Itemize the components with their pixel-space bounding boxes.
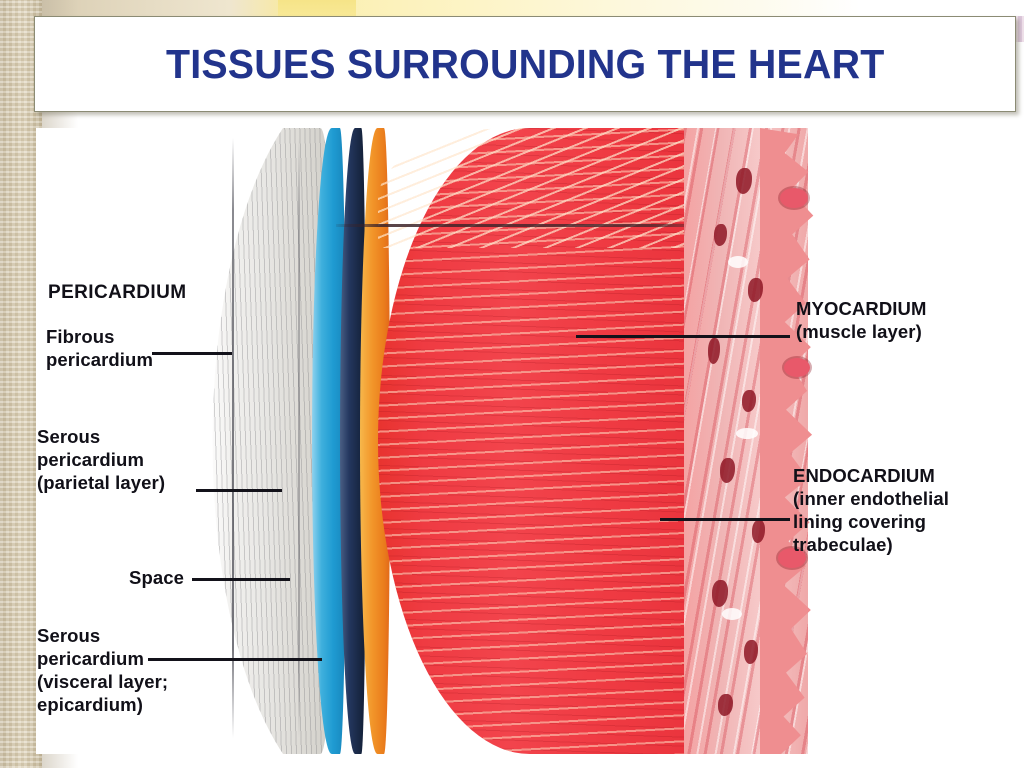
fibrous-edge-line-inner xyxy=(298,138,300,738)
label-myocardium: MYOCARDIUM (muscle layer) xyxy=(796,297,927,343)
leader-line-myocardium xyxy=(576,335,790,338)
label-space: Space xyxy=(129,566,184,589)
leader-line-endocardium xyxy=(660,518,790,521)
label-serous-visceral: Serous pericardium (visceral layer; epic… xyxy=(37,624,168,716)
trabecula-highlight xyxy=(728,256,748,268)
trabecula-knob xyxy=(780,188,808,208)
leader-line-fibrous-pericardium xyxy=(152,352,232,355)
leader-line-serous-visceral xyxy=(148,658,322,661)
leader-line-serous-parietal xyxy=(196,489,282,492)
myocardium-fiber-fan xyxy=(378,128,708,248)
label-serous-parietal: Serous pericardium (parietal layer) xyxy=(37,425,165,494)
label-endocardium: ENDOCARDIUM (inner endothelial lining co… xyxy=(793,464,949,556)
label-pericardium-heading: PERICARDIUM xyxy=(48,281,186,304)
myocardium-cut-edge-line xyxy=(336,224,708,227)
trabecula-highlight xyxy=(722,608,742,620)
trabecula-knob xyxy=(784,358,810,377)
label-fibrous-pericardium: Fibrous pericardium xyxy=(46,325,153,371)
page-title: TISSUES SURROUNDING THE HEART xyxy=(166,41,884,88)
trabecula-highlight xyxy=(736,428,758,439)
endocardium-trabeculae-ridge xyxy=(760,128,822,754)
leader-line-space xyxy=(192,578,290,581)
fibrous-edge-line-outer xyxy=(232,138,234,738)
slide-title-box: TISSUES SURROUNDING THE HEART xyxy=(34,16,1016,112)
right-label-gutter xyxy=(822,128,996,754)
